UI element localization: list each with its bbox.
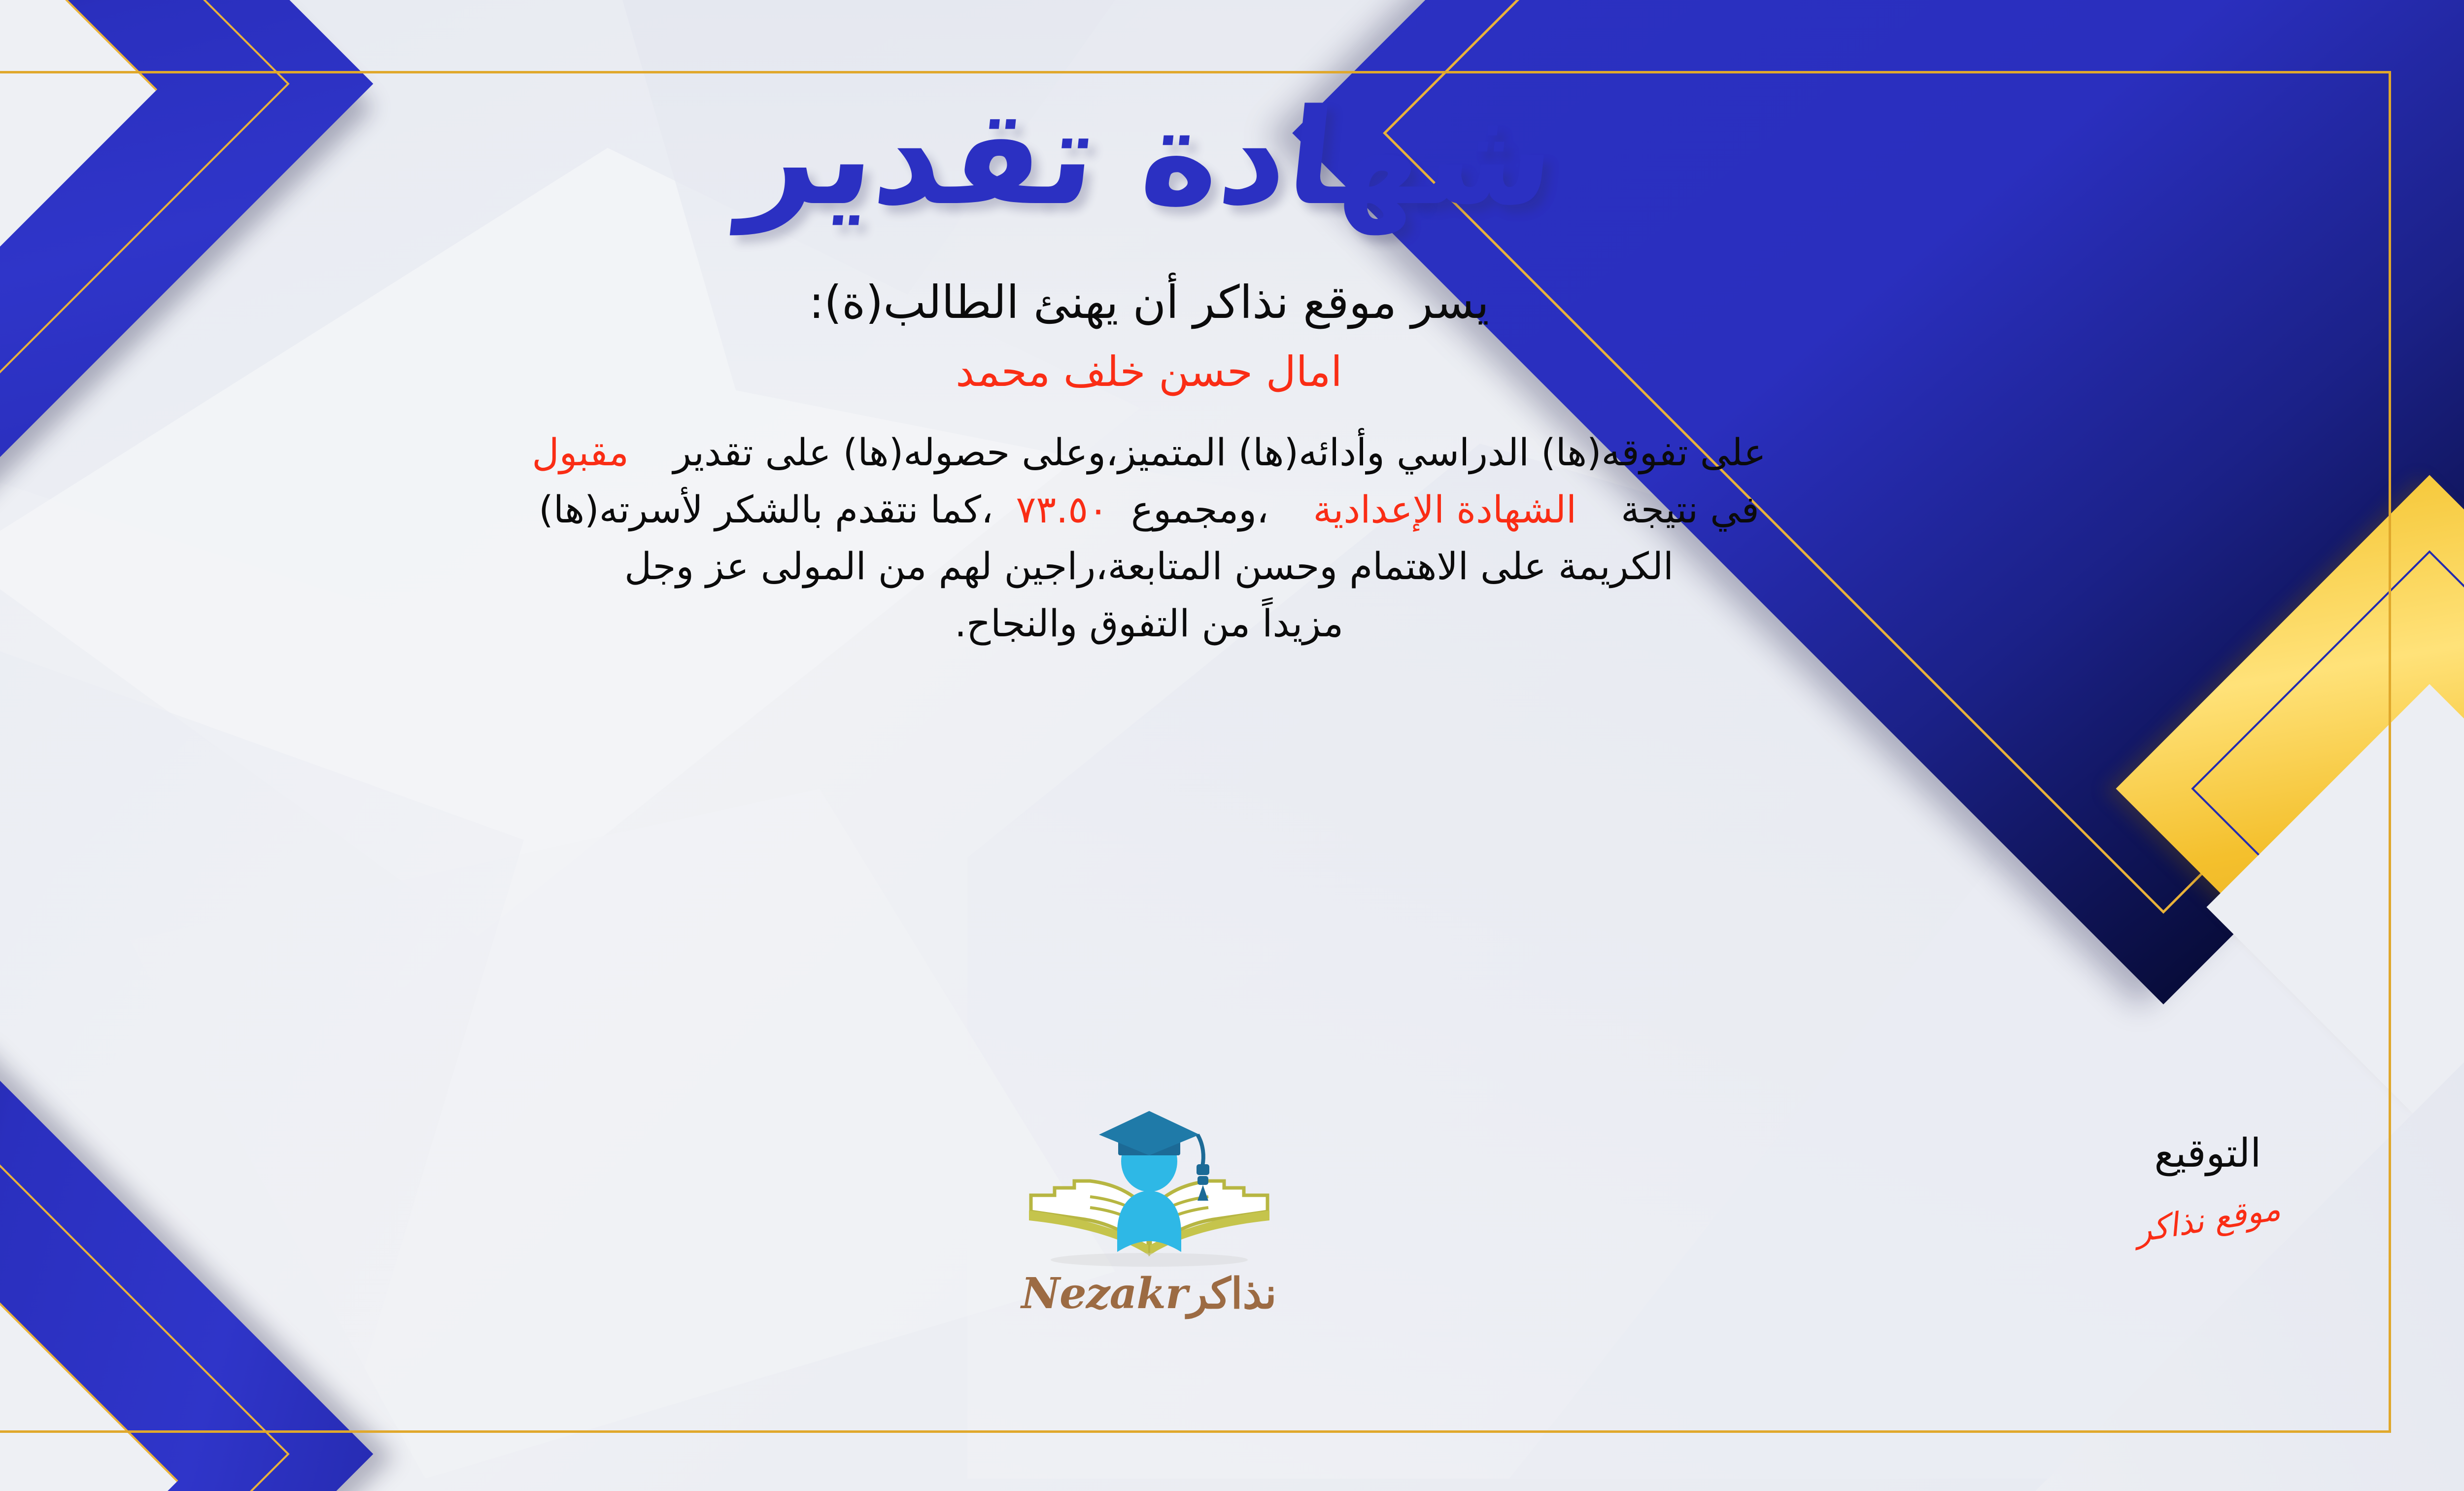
certificate-name: الشهادة الإعدادية [1313,487,1577,531]
logo-wordmark: نذاكرNezakr [977,1269,1322,1318]
total-score: ٧٣.٥٠ [1016,487,1108,531]
signature-label: التوقيع [2070,1134,2346,1173]
certificate-title: شهادة تقدير [0,92,2387,224]
certificate-canvas: شهادة تقدير يسر موقع نذاكر أن يهنئ الطال… [0,0,2464,1491]
grade-value: مقبول [532,430,629,474]
logo-arabic: نذاكر [1187,1269,1276,1318]
paragraph-line-2a: في نتيجة [1621,487,1759,531]
paragraph-line-2c: ،كما نتقدم بالشكر لأسرته(ها) [539,487,993,531]
certificate-content: شهادة تقدير يسر موقع نذاكر أن يهنئ الطال… [0,79,2380,1427]
paragraph-line-3: الكريمة على الاهتمام وحسن المتابعة،راجين… [0,538,2365,595]
paragraph-line-1: على تفوقه(ها) الدراسي وأدائه(ها) المتميز… [0,424,2365,481]
paragraph-line-4: مزيداً من التفوق والنجاح. [0,595,2365,652]
logo-latin: Nezakr [1021,1269,1187,1318]
graduate-book-icon [1016,1109,1282,1272]
certificate-paragraph: على تفوقه(ها) الدراسي وأدائه(ها) المتميز… [0,424,2380,652]
student-name: امال حسن خلف محمد [0,347,2380,396]
paragraph-line-2: في نتيجةالشهادة الإعدادية،ومجموع٧٣.٥٠،كم… [0,481,2365,538]
site-logo: نذاكرNezakr [977,1109,1322,1318]
signature-script: موقع نذاكر [2133,1189,2283,1249]
paragraph-line-2b: ،ومجموع [1131,487,1269,531]
signature-block: التوقيع موقع نذاكر [2070,1134,2346,1239]
paragraph-line-1-text: على تفوقه(ها) الدراسي وأدائه(ها) المتميز… [673,430,1766,474]
greeting-line: يسر موقع نذاكر أن يهنئ الطالب(ة): [0,276,2380,329]
